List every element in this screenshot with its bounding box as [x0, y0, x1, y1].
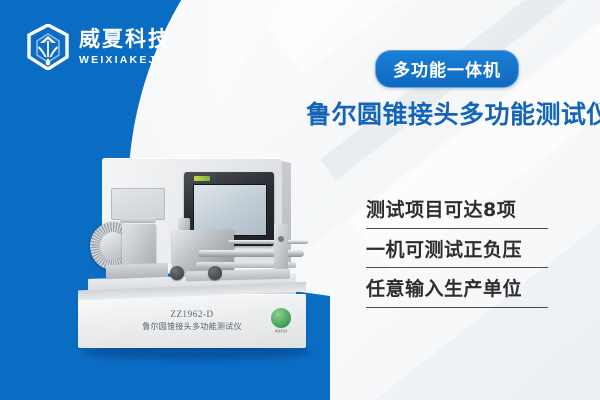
adjust-knob-icon [170, 266, 184, 280]
emblem-caption: 威夏科技 [270, 329, 292, 333]
recessed-plate-icon [111, 188, 165, 220]
feature-text: 一机可测试正负压 [366, 238, 548, 264]
handwheel-housing [122, 224, 156, 266]
adjust-knob-icon [208, 266, 222, 280]
emblem-disc [271, 308, 291, 328]
machine-base: ZZ1962-D 鲁尔圆锥接头多功能测试仪 威夏科技 [78, 294, 306, 348]
feature-underline [366, 267, 548, 268]
brand-text: 威夏科技 WEIXIAKEJI [79, 29, 171, 66]
feature-list: 测试项目可达8项 一机可测试正负压 任意输入生产单位 [366, 198, 548, 317]
product-image: ZZ1962-D 鲁尔圆锥接头多功能测试仪 威夏科技 [78, 158, 316, 366]
list-item: 一机可测试正负压 [366, 238, 548, 269]
hexagon-shield-logo-icon [26, 24, 70, 70]
feature-underline [366, 307, 548, 308]
feature-underline [366, 228, 548, 229]
list-item: 测试项目可达8项 [366, 198, 548, 229]
brand-name-cn: 威夏科技 [79, 29, 171, 50]
handwheel-base-plate [106, 263, 168, 279]
hmi-screen [193, 184, 267, 236]
linear-rail [198, 250, 304, 257]
guide-rod-icon [228, 240, 308, 244]
green-circle-emblem-icon: 威夏科技 [270, 308, 292, 334]
brand-lockup: 威夏科技 WEIXIAKEJI [26, 24, 171, 70]
page-title: 鲁尔圆锥接头多功能测试仪 [306, 95, 600, 131]
list-item: 任意输入生产单位 [366, 277, 548, 308]
hero-badge: 多功能一体机 [375, 50, 519, 88]
hmi-status-led-icon [194, 176, 210, 181]
brand-name-en: WEIXIAKEJI [79, 55, 171, 66]
feature-text: 任意输入生产单位 [366, 277, 548, 303]
feature-text: 测试项目可达8项 [366, 198, 548, 224]
product-banner: 威夏科技 WEIXIAKEJI 多功能一体机 鲁尔圆锥接头多功能测试仪 测试项目… [0, 0, 600, 400]
end-bracket [274, 224, 288, 272]
